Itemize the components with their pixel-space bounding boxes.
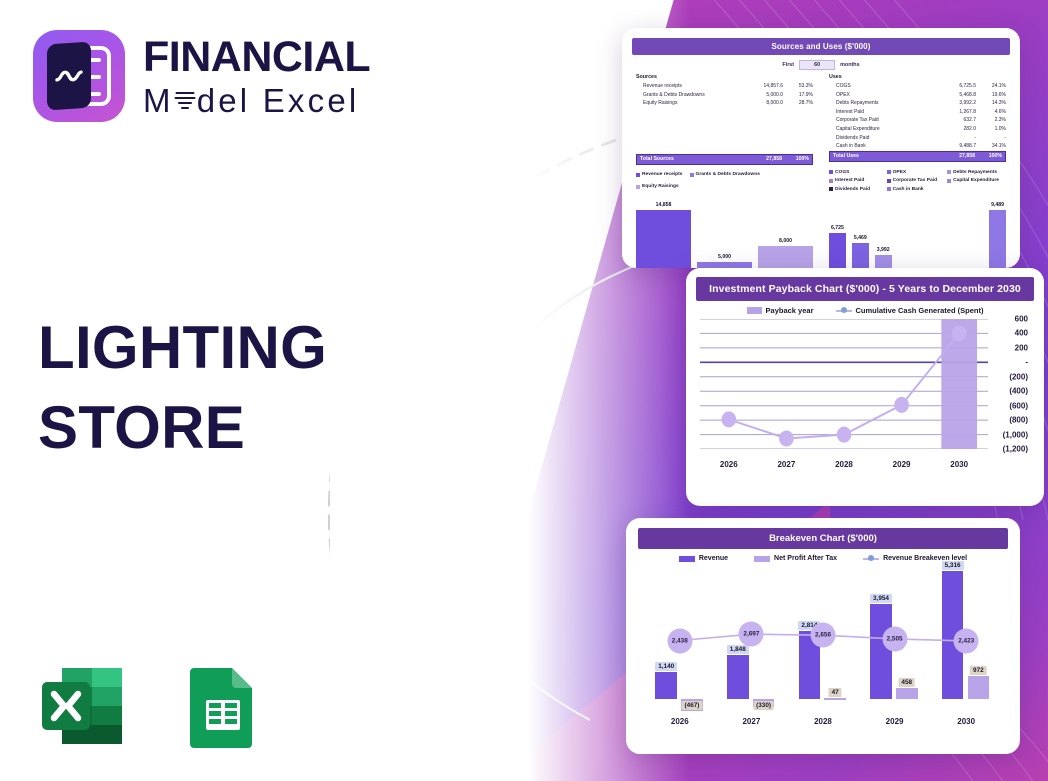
payback-legend: Payback year Cumulative Cash Generated (… [696,306,1034,315]
breakeven-title: Breakeven Chart ($'000) [638,528,1008,549]
npat-swatch-icon [754,556,770,562]
payback-x-tick: 2030 [930,460,988,469]
row-label: COGS [829,82,934,91]
legend-swatch-icon [829,187,833,191]
legend-label: Dividends Paid [835,187,870,192]
row-label: Capital Expenditure [829,125,934,134]
uses-bar: 9,489 [989,196,1006,268]
row-percent: 34.1% [976,142,1006,151]
uses-table-row: Interest Paid1,267.84.6% [829,108,1006,117]
row-percent: 2.3% [976,116,1006,125]
row-value: 5,000.0 [741,91,783,100]
payback-x-tick: 2029 [873,460,931,469]
legend-swatch-icon [887,170,891,174]
sources-legend-item: Grants & Debts Drawdowns [690,170,760,180]
row-value: 3,992.2 [934,99,976,108]
bar-value-label: 3,992 [877,247,890,253]
months-input-prefix: First [782,62,794,68]
breakeven-value-bubble: 2,697 [739,622,764,647]
legend-label: Revenue receipts [642,172,683,177]
payback-y-tick: (400) [1009,387,1028,396]
uses-bar: 6,725 [829,196,846,268]
bar-value-label: 5,469 [854,235,867,241]
row-percent: 14.3% [976,99,1006,108]
row-value: 9,488.7 [934,142,976,151]
legend-swatch-icon [636,173,640,177]
row-label: Grants & Debts Drawdowns [636,91,741,100]
legend-npat: Net Profit After Tax [754,555,837,562]
sources-and-uses-card[interactable]: Sources and Uses ($'000) First 60 months… [622,28,1020,268]
breakeven-plot-area: 1,140(467)1,848(330)2,814473,9544585,316… [644,564,1002,714]
legend-label: Debts Repayments [953,170,997,175]
uses-table-row: OPEX5,468.819.6% [829,91,1006,100]
row-label: Interest Paid [829,108,934,117]
breakeven-value-bubble: 2,505 [882,626,907,651]
row-label: OPEX [829,91,934,100]
sources-table-row: Grants & Debts Drawdowns5,000.017.9% [636,91,813,100]
brand-wordmark: FINANCIAL M del Excel [143,36,370,117]
row-label: Equity Raisings [636,99,741,108]
legend-swatch-icon [887,179,891,183]
payback-y-tick: (800) [1009,416,1028,425]
total-sources-pct: 100% [782,156,812,162]
payback-x-tick: 2028 [815,460,873,469]
payback-year-swatch-icon [747,307,762,314]
sources-uses-tables: Sources Revenue receipts14,857.653.3%Gra… [632,74,1010,165]
sources-uses-legends: Revenue receiptsGrants & Debts Drawdowns… [632,165,1010,194]
row-value: 5,468.8 [934,91,976,100]
bar [852,243,869,268]
payback-y-tick: 600 [1015,315,1028,324]
uses-legend-item: Dividends Paid [829,187,877,192]
months-input-row: First 60 months [632,60,1010,70]
row-label: Corporate Tax Paid [829,116,934,125]
payback-plot-area: 600400200-(200)(400)(600)(800)(1,000)(1,… [700,319,1030,469]
payback-x-tick: 2026 [700,460,758,469]
uses-bar: 0 [966,196,983,268]
breakeven-value-bubble: 2,656 [811,623,836,648]
sources-bar: 14,858 [636,196,691,268]
legend-label: Corporate Tax Paid [893,178,937,183]
microsoft-excel-icon [34,658,130,754]
uses-table-row: Capital Expenditure282.01.0% [829,125,1006,134]
sources-bar: 8,000 [758,196,813,268]
wave-icon [54,66,84,86]
months-input-suffix: months [840,62,859,68]
chart-card-icon [47,41,91,110]
breakeven-card[interactable]: Breakeven Chart ($'000) Revenue Net Prof… [626,518,1020,754]
cumulative-cash-line-icon [836,310,852,312]
row-label: Debts Repayments [829,99,934,108]
row-value: 6,725.5 [934,82,976,91]
legend-swatch-icon [887,187,891,191]
brand-lockup: FINANCIAL M del Excel [33,30,370,122]
bar-value-label: 5,000 [718,254,731,260]
bar-value-label: 8,000 [779,238,792,244]
legend-cumulative-cash: Cumulative Cash Generated (Spent) [836,306,984,315]
sources-uses-charts: 14,8585,0008,000 6,7255,4693,9921,268633… [632,196,1010,268]
sources-legend-item: Equity Raisings [636,182,679,192]
uses-bar: 5,469 [852,196,869,268]
total-sources-row: Total Sources 27,858 100% [636,154,813,165]
uses-legend-item: Cash in Bank [887,187,937,192]
legend-swatch-icon [947,170,951,174]
months-input-field[interactable]: 60 [799,60,835,70]
row-percent: 17.9% [783,91,813,100]
breakeven-value-bubble: 2,438 [667,628,692,653]
sources-bar-chart: 14,8585,0008,000 [636,196,813,268]
legend-revenue-label: Revenue [699,555,728,562]
payback-y-axis-labels: 600400200-(200)(400)(600)(800)(1,000)(1,… [990,319,1030,449]
legend-label: Interest Paid [835,178,864,183]
sources-header: Sources [636,74,813,80]
total-sources-value: 27,858 [740,156,782,162]
total-uses-pct: 100% [975,153,1005,159]
uses-legend-item: Interest Paid [829,178,877,183]
row-value: 282.0 [934,125,976,134]
payback-y-tick: 400 [1015,329,1028,338]
payback-line-chart [700,319,988,449]
uses-table-row: Debts Repayments3,992.214.3% [829,99,1006,108]
sources-legend-item: Revenue receipts [636,170,683,180]
legend-label: Capital Expenditure [953,178,999,183]
google-sheets-icon [172,658,268,754]
row-percent: 53.3% [783,82,813,91]
row-label: Cash in Bank [829,142,934,151]
legend-label: Grants & Debts Drawdowns [696,172,760,177]
payback-y-tick: - [1025,358,1028,367]
legend-label: Cash in Bank [893,187,924,192]
payback-y-tick: (1,000) [1003,430,1028,439]
uses-table-row: COGS6,725.524.1% [829,82,1006,91]
uses-bar: 633 [921,196,938,268]
row-value: 8,000.0 [741,99,783,108]
uses-legend-item: Corporate Tax Paid [887,178,937,183]
uses-chart-legend: COGSOPEXDebts RepaymentsInterest PaidCor… [829,170,1006,194]
legend-label: COGS [835,170,849,175]
sources-table: Sources Revenue receipts14,857.653.3%Gra… [636,74,813,165]
bar [875,255,892,268]
uses-bar: 1,268 [898,196,915,268]
bar-value-label: 9,489 [991,202,1004,208]
legend-payback-year: Payback year [747,306,814,315]
uses-legend-item: Capital Expenditure [947,178,999,183]
left-content-panel: FINANCIAL M del Excel LIGHTING STORE [0,0,470,781]
legend-label: Equity Raisings [642,184,679,189]
sources-bar: 5,000 [697,196,752,268]
uses-legend-item: COGS [829,170,877,175]
row-value: - [934,134,976,143]
row-percent: 1.0% [976,125,1006,134]
uses-table-row: Corporate Tax Paid632.72.3% [829,116,1006,125]
legend-swatch-icon [690,173,694,177]
page-title: LIGHTING STORE [38,308,327,468]
breakeven-x-tick: 2026 [644,717,716,726]
total-sources-label: Total Sources [637,156,740,162]
uses-bar: 3,992 [875,196,892,268]
uses-table-row: Cash in Bank9,488.734.1% [829,142,1006,151]
uses-table: Uses COGS6,725.524.1%OPEX5,468.819.6%Deb… [829,74,1006,165]
row-value: 14,857.6 [741,82,783,91]
legend-swatch-icon [947,179,951,183]
row-value: 1,267.8 [934,108,976,117]
total-uses-label: Total Uses [830,153,933,159]
total-uses-row: Total Uses 27,858 100% [829,151,1006,162]
breakeven-line-icon [863,558,879,560]
breakeven-x-tick: 2028 [787,717,859,726]
row-percent: 19.6% [976,91,1006,100]
legend-npat-label: Net Profit After Tax [774,555,837,562]
brand-line-1: FINANCIAL [143,36,370,79]
payback-y-tick: 200 [1015,343,1028,352]
legend-payback-year-label: Payback year [766,306,814,315]
legend-cumulative-cash-label: Cumulative Cash Generated (Spent) [856,306,984,315]
legend-revenue: Revenue [679,555,728,562]
payback-title: Investment Payback Chart ($'000) - 5 Yea… [696,277,1034,301]
breakeven-x-tick: 2030 [930,717,1002,726]
sources-uses-title: Sources and Uses ($'000) [632,38,1010,55]
payback-x-tick: 2027 [758,460,816,469]
uses-legend-item: Debts Repayments [947,170,999,175]
bar [636,210,691,268]
brand-line-2: M del Excel [143,84,370,117]
payback-y-tick: (600) [1009,401,1028,410]
uses-legend-item: OPEX [887,170,937,175]
sources-table-row: Equity Raisings8,000.028.7% [636,99,813,108]
legend-swatch-icon [636,185,640,189]
uses-header: Uses [829,74,1006,80]
sources-chart-legend: Revenue receiptsGrants & Debts Drawdowns… [636,170,813,194]
legend-label: OPEX [893,170,907,175]
bar-value-label: 6,725 [831,225,844,231]
bar [989,210,1006,268]
total-uses-value: 27,858 [933,153,975,159]
row-value: 632.7 [934,116,976,125]
legend-swatch-icon [829,170,833,174]
payback-y-tick: (200) [1009,372,1028,381]
stacked-bars-o-icon [175,89,196,112]
payback-y-tick: (1,200) [1003,445,1028,454]
bar [829,233,846,268]
breakeven-x-tick: 2027 [716,717,788,726]
investment-payback-card[interactable]: Investment Payback Chart ($'000) - 5 Yea… [686,268,1044,506]
brand-line-2-pre: M [143,84,174,117]
bar [758,246,813,268]
uses-table-row: Dividends Paid-- [829,134,1006,143]
uses-bar: 282 [943,196,960,268]
brand-line-2-post: del Excel [197,84,360,117]
sources-table-row: Revenue receipts14,857.653.3% [636,82,813,91]
revenue-swatch-icon [679,556,695,562]
uses-bar-chart: 6,7255,4693,9921,26863328209,489 [829,196,1006,268]
payback-x-axis-labels: 20262027202820292030 [700,460,988,469]
row-percent: 28.7% [783,99,813,108]
row-percent: 24.1% [976,82,1006,91]
breakeven-x-tick: 2029 [859,717,931,726]
row-percent: 4.6% [976,108,1006,117]
row-percent: - [976,134,1006,143]
financial-model-logo-icon [33,30,125,122]
bar-value-label: 14,858 [656,202,672,208]
row-label: Revenue receipts [636,82,741,91]
breakeven-x-axis-labels: 20262027202820292030 [644,717,1002,726]
row-label: Dividends Paid [829,134,934,143]
app-icon-row [34,658,268,754]
breakeven-value-bubble: 2,423 [954,628,979,653]
legend-swatch-icon [829,179,833,183]
